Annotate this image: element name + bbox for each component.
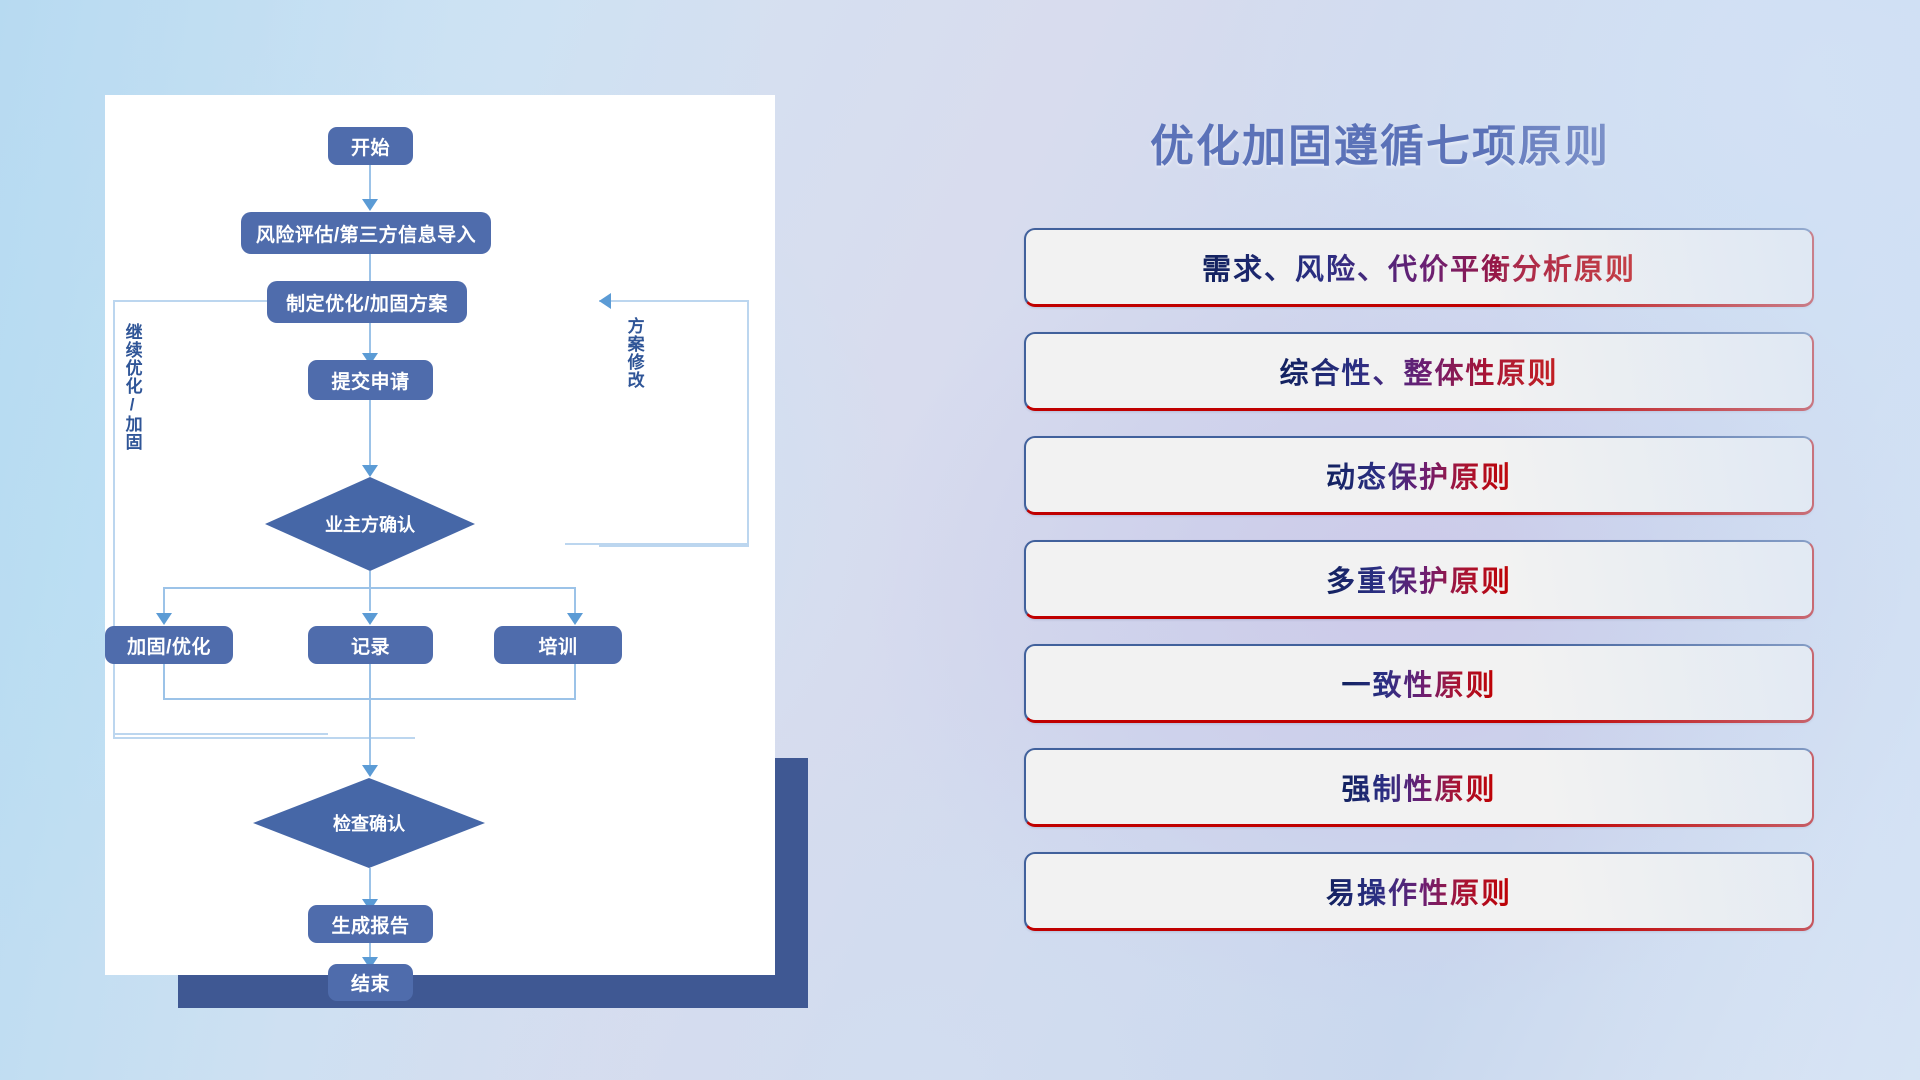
node-generate-report[interactable]: 生成报告 (308, 905, 433, 943)
arrow-start-to-risk (362, 199, 378, 211)
right-loop-frame (599, 300, 749, 547)
principle-item-7[interactable]: 易操作性原则 (1024, 852, 1814, 931)
node-training-label: 培训 (538, 632, 577, 659)
node-risk-assessment[interactable]: 风险评估/第三方信息导入 (241, 212, 491, 254)
node-make-plan[interactable]: 制定优化/加固方案 (267, 281, 467, 323)
node-start[interactable]: 开始 (328, 127, 413, 165)
merge-stem-left (163, 664, 165, 700)
arrow-submit-to-owner (362, 465, 378, 477)
edge-label-right-loop: 方案修改 (625, 317, 643, 389)
arrow-to-reinforce (156, 613, 172, 625)
right-loop-top-line (613, 300, 747, 302)
node-submit-application[interactable]: 提交申请 (308, 360, 433, 400)
node-start-label: 开始 (351, 133, 390, 160)
edge-label-left-loop: 继续优化/加固 (123, 323, 141, 451)
principle-label: 多重保护原则 (1326, 558, 1512, 600)
page-title: 优化加固遵循七项原则 (1150, 110, 1610, 174)
slide-root: 继续优化/加固 方案修改 开始 风险评估/第三方信息导入 制定优化/加固方案 (0, 0, 1920, 1080)
arrow-to-check (362, 765, 378, 777)
arrow-to-record (362, 613, 378, 625)
principle-label: 一致性原则 (1341, 662, 1496, 704)
node-record[interactable]: 记录 (308, 626, 433, 664)
node-end-label: 结束 (351, 969, 390, 996)
node-risk-assessment-label: 风险评估/第三方信息导入 (256, 220, 476, 247)
left-loop-bottom-line (113, 733, 328, 735)
principle-item-4[interactable]: 多重保护原则 (1024, 540, 1814, 619)
principle-label: 强制性原则 (1341, 766, 1496, 808)
node-record-label: 记录 (351, 632, 390, 659)
principle-label: 易操作性原则 (1326, 870, 1512, 912)
node-check-confirmation[interactable]: 检查确认 (253, 778, 485, 868)
node-generate-report-label: 生成报告 (331, 911, 409, 938)
principle-item-6[interactable]: 强制性原则 (1024, 748, 1814, 827)
principle-label: 综合性、整体性原则 (1279, 350, 1558, 392)
right-loop-bottom-line (565, 543, 747, 545)
node-owner-confirmation-label: 业主方确认 (325, 511, 415, 537)
node-make-plan-label: 制定优化/加固方案 (286, 289, 448, 316)
flowchart: 继续优化/加固 方案修改 开始 风险评估/第三方信息导入 制定优化/加固方案 (105, 95, 775, 975)
right-loop-arrowhead (599, 293, 611, 309)
arrow-to-training (567, 613, 583, 625)
edge-submit-to-owner (369, 400, 371, 472)
principle-label: 动态保护原则 (1326, 454, 1512, 496)
merge-stem-right (574, 664, 576, 700)
principles-list: 需求、风险、代价平衡分析原则 综合性、整体性原则 动态保护原则 多重保护原则 一… (1024, 228, 1814, 956)
edge-owner-down (369, 571, 371, 611)
principle-item-1[interactable]: 需求、风险、代价平衡分析原则 (1024, 228, 1814, 307)
principle-item-5[interactable]: 一致性原则 (1024, 644, 1814, 723)
flowchart-card: 继续优化/加固 方案修改 开始 风险评估/第三方信息导入 制定优化/加固方案 (105, 95, 775, 975)
principle-item-3[interactable]: 动态保护原则 (1024, 436, 1814, 515)
node-training[interactable]: 培训 (494, 626, 622, 664)
principle-item-2[interactable]: 综合性、整体性原则 (1024, 332, 1814, 411)
split-bus (163, 587, 575, 589)
node-submit-application-label: 提交申请 (331, 367, 409, 394)
principle-label: 需求、风险、代价平衡分析原则 (1202, 246, 1636, 288)
node-check-confirmation-label: 检查确认 (333, 810, 405, 836)
merge-stem-center (369, 664, 371, 772)
node-end[interactable]: 结束 (328, 964, 413, 1001)
node-reinforce-optimize-label: 加固/优化 (127, 632, 211, 659)
node-reinforce-optimize[interactable]: 加固/优化 (105, 626, 233, 664)
